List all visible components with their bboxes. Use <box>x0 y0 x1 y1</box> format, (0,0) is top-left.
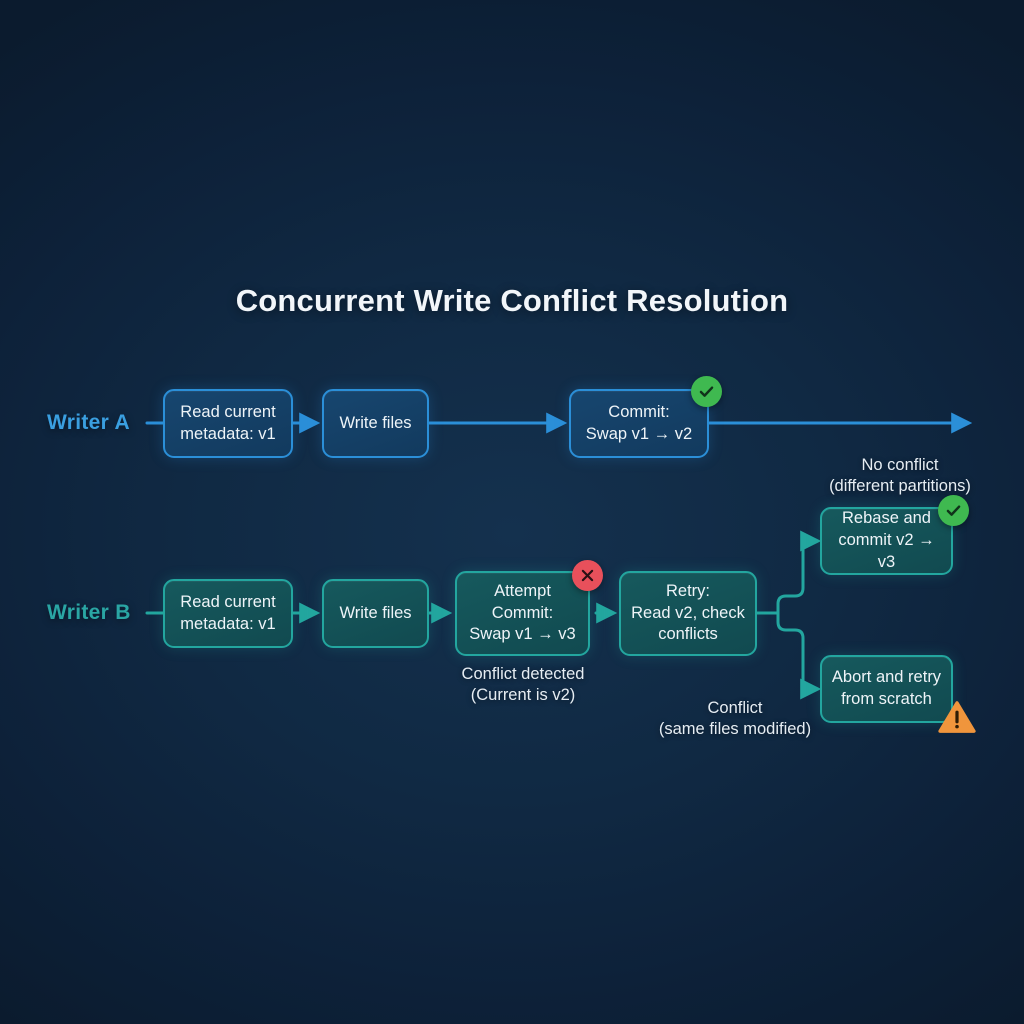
node-writer-b-read-metadata[interactable]: Read current metadata: v1 <box>163 579 293 648</box>
node-writer-b-write-files[interactable]: Write files <box>322 579 429 648</box>
success-check-icon <box>691 376 722 407</box>
node-writer-a-read-metadata[interactable]: Read current metadata: v1 <box>163 389 293 458</box>
node-writer-b-retry[interactable]: Retry: Read v2, check conflicts <box>619 571 757 656</box>
caption-no-conflict: No conflict (different partitions) <box>785 455 1015 498</box>
failure-cross-icon <box>572 560 603 591</box>
success-check-icon <box>938 495 969 526</box>
lane-label-writer-b: Writer B <box>47 601 131 625</box>
warning-triangle-icon <box>938 700 976 734</box>
node-writer-a-commit[interactable]: Commit: Swap v1 → v2 <box>569 389 709 458</box>
caption-conflict-detected: Conflict detected (Current is v2) <box>412 664 634 707</box>
diagram-canvas: Concurrent Write Conflict Resolution <box>0 0 1024 1024</box>
caption-conflict: Conflict (same files modified) <box>620 698 850 741</box>
lane-label-writer-a: Writer A <box>47 411 130 435</box>
node-writer-a-write-files[interactable]: Write files <box>322 389 429 458</box>
wire-b-branch-to-abort <box>778 613 817 689</box>
page-title: Concurrent Write Conflict Resolution <box>0 283 1024 319</box>
node-writer-b-rebase-commit[interactable]: Rebase and commit v2 → v3 <box>820 507 953 575</box>
node-writer-b-attempt-commit[interactable]: Attempt Commit: Swap v1 → v3 <box>455 571 590 656</box>
wire-b-branch-to-rebase <box>778 541 817 613</box>
